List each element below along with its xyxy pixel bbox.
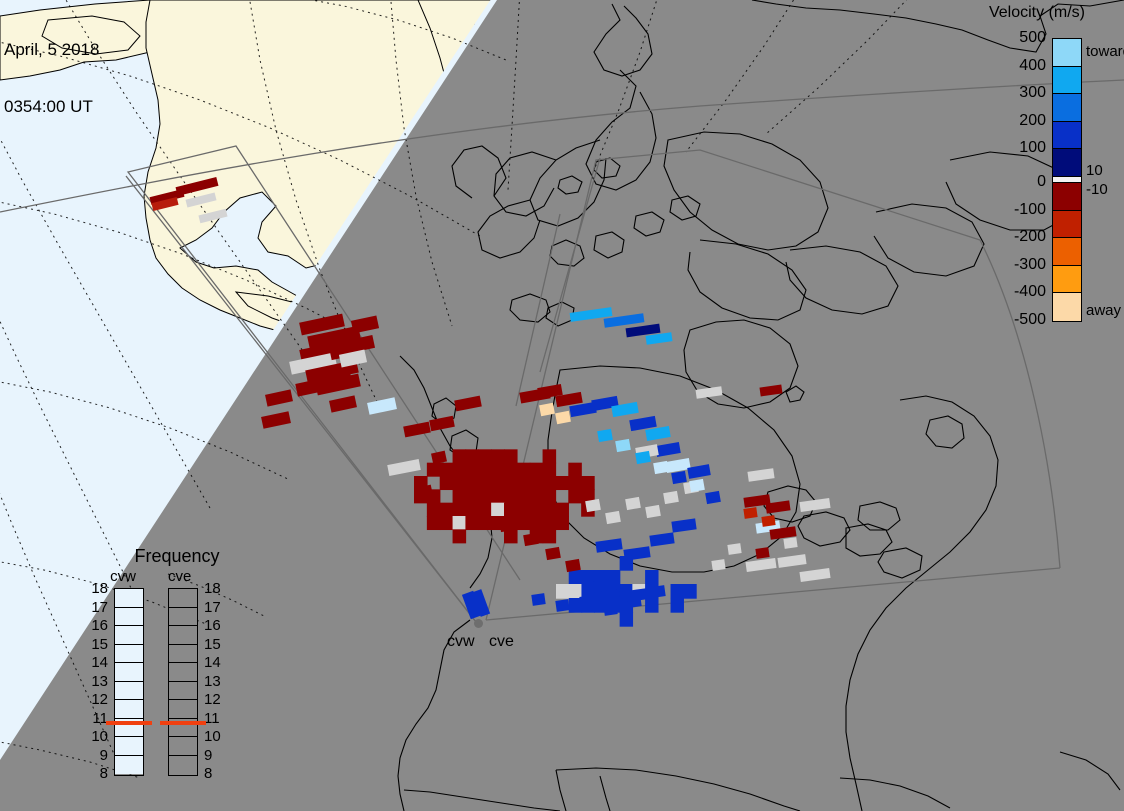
frequency-legend: Frequency cvw 18171615141312111098 cve 1… [82,546,272,796]
colorbar-tick: -100 [962,202,1046,218]
velocity-cell [429,416,455,431]
colorbar-tick: 100 [962,140,1046,156]
velocity-cell [427,503,441,517]
colorbar-segment [1053,149,1081,177]
velocity-cell [367,397,397,415]
frequency-tick: 13 [82,674,108,689]
velocity-cell-group [623,546,650,561]
velocity-cell [403,422,431,438]
colorbar-segment [1053,266,1081,294]
velocity-cell [671,598,684,613]
velocity-cell [465,516,479,530]
velocity-cell [440,476,454,490]
velocity-cell [530,516,544,530]
velocity-cell-group [783,537,797,549]
frequency-tick: 15 [204,637,230,652]
velocity-cell [387,459,421,476]
velocity-cell-group [185,192,216,207]
velocity-cell [478,449,492,463]
velocity-cell-group [555,411,571,424]
velocity-cell [759,385,782,397]
frequency-ticks-cvw: 18171615141312111098 [82,588,108,776]
velocity-cell [665,458,691,473]
velocity-cell-group [645,426,671,441]
frequency-tick: 10 [204,729,230,744]
frequency-step [169,663,197,682]
velocity-cell [777,554,806,568]
frequency-tick: 15 [82,637,108,652]
frequency-tick: 8 [204,766,230,781]
velocity-cell [530,476,544,490]
velocity-cell [545,547,561,560]
velocity-cell-group [651,585,665,598]
velocity-cell-group [671,471,687,484]
velocity-cell-group [198,209,227,224]
velocity-cell [568,463,582,477]
radar-site-dot [474,619,483,628]
velocity-cell [491,476,505,490]
velocity-cell [465,476,479,490]
velocity-cell [755,547,769,559]
velocity-cell [517,489,531,503]
velocity-cell-group [747,468,774,482]
frequency-tick: 16 [82,618,108,633]
velocity-cell-group [387,459,421,476]
velocity-cell [440,516,454,530]
velocity-cell-group [531,593,545,606]
velocity-cell [543,503,557,517]
velocity-cell-group [597,429,613,442]
frequency-tick: 9 [82,748,108,763]
colorbar-gradient [1052,38,1082,322]
velocity-cell [440,463,454,477]
velocity-cell [523,533,539,546]
velocity-cell [595,538,622,553]
velocity-cell-group [595,538,622,553]
velocity-cell [530,463,544,477]
colorbar-tick: 300 [962,85,1046,101]
velocity-cell-group [615,439,631,452]
frequency-step [115,756,143,775]
frequency-step [169,737,197,756]
velocity-cell [645,598,658,613]
velocity-cell-group [755,547,769,559]
velocity-cell-group [176,177,219,196]
velocity-cell-group [265,389,293,406]
velocity-cell-group [523,533,539,546]
velocity-cell [440,503,454,517]
velocity-cell [555,476,569,490]
colorbar-zero-lower-label: -10 [1086,182,1108,197]
frequency-step [169,700,197,719]
frequency-tick: 14 [204,655,230,670]
frequency-step [169,645,197,664]
frequency-tick: 17 [204,600,230,615]
velocity-cell [687,464,711,479]
frequency-tick: 12 [204,692,230,707]
velocity-cell [491,449,505,463]
velocity-cell [581,476,595,490]
velocity-cell-group [429,416,455,431]
velocity-cell-group [649,532,674,546]
velocity-cell-group [431,451,447,465]
colorbar-segment [1053,122,1081,150]
frequency-legend-title: Frequency [82,546,272,567]
frequency-tick: 11 [82,711,108,726]
velocity-cell-group [539,403,555,416]
frequency-step [115,663,143,682]
velocity-cell [517,516,531,530]
velocity-cell [478,476,492,490]
velocity-cell [605,511,621,524]
frequency-tick: 8 [82,766,108,781]
velocity-cell-group [605,511,621,524]
velocity-cell-group [645,505,661,518]
velocity-cell-group [367,397,397,415]
colorbar-segment [1053,183,1081,211]
velocity-cell [743,507,757,519]
velocity-cell [651,585,665,598]
frequency-bar-cvw [114,588,144,776]
frequency-step [169,756,197,775]
colorbar-tick: -300 [962,257,1046,273]
colorbar-segment [1053,293,1081,321]
velocity-cell-group [696,386,723,399]
frequency-step [115,700,143,719]
velocity-cell-group [454,396,482,412]
frequency-step [169,626,197,645]
velocity-cell-group [777,554,806,568]
frequency-tick: 11 [204,711,230,726]
colorbar-segment [1053,238,1081,266]
velocity-cell [627,595,641,608]
velocity-cell [491,463,505,477]
velocity-cell [543,463,557,477]
velocity-cell [453,503,467,517]
velocity-cell [555,503,569,517]
velocity-cell [625,497,641,510]
velocity-cell [579,595,593,608]
velocity-cell-group [761,515,775,527]
velocity-cell [504,463,518,477]
frequency-marker-cvw [106,721,152,725]
radar-site-label-cvw: cvw [447,633,475,651]
velocity-cell-group [799,498,830,512]
velocity-cell [517,476,531,490]
velocity-cell [645,505,661,518]
velocity-cell-group [545,547,561,560]
velocity-cell [671,518,696,532]
velocity-cell [543,516,557,530]
velocity-cell [799,568,830,582]
colorbar-tick: 200 [962,113,1046,129]
velocity-cell [568,489,582,503]
velocity-cell-group [603,603,617,616]
velocity-cell [427,463,441,477]
velocity-cell-group [555,599,569,612]
fan-plot-canvas: April, 5 2018 0354:00 UT cvw cve Velocit… [0,0,1124,811]
velocity-cell [453,529,467,543]
velocity-colorbar: Velocity (m/s) 5004003002001000-100-200-… [962,0,1124,340]
velocity-cell [265,389,293,406]
frequency-step [169,589,197,608]
velocity-cell [555,516,569,530]
velocity-cell [745,558,776,572]
velocity-cell [465,463,479,477]
frequency-tick: 13 [204,674,230,689]
velocity-cell [671,584,684,599]
velocity-cell [711,559,725,571]
velocity-cell [329,395,357,412]
frequency-tick: 17 [82,600,108,615]
velocity-cell [620,612,633,627]
velocity-cell [261,411,291,429]
velocity-cell-group [687,464,711,479]
frequency-marker-cve [160,721,206,725]
velocity-cell [517,503,531,517]
velocity-cell [649,532,674,546]
velocity-cell [615,439,631,452]
velocity-cell [504,529,518,543]
velocity-cell [569,584,582,599]
frequency-tick: 18 [82,581,108,596]
colorbar-segment [1053,39,1081,67]
velocity-cell [556,584,569,599]
velocity-cell [689,479,705,492]
velocity-cell [555,411,571,424]
velocity-cell [603,603,617,616]
velocity-cell [671,471,687,484]
frequency-step [115,682,143,701]
velocity-cell-group [653,461,669,474]
velocity-cell [597,429,613,442]
frequency-step [115,645,143,664]
frequency-column-cve: cve 18171615141312111098 [164,568,246,788]
velocity-cell [491,489,505,503]
velocity-cell [454,396,482,412]
velocity-cell [478,463,492,477]
frequency-step [169,682,197,701]
frequency-step [115,626,143,645]
velocity-cell [783,537,797,549]
velocity-cell [653,461,669,474]
velocity-cell [569,570,582,585]
colorbar-tick: 500 [962,30,1046,46]
velocity-cell-group [745,558,776,572]
colorbar-tick: -500 [962,312,1046,328]
velocity-cell-group [261,411,291,429]
frequency-ticks-cve: 18171615141312111098 [204,588,230,776]
frequency-bar-cve [168,588,198,776]
colorbar-zero-upper-label: 10 [1086,163,1103,178]
velocity-cell [185,192,216,207]
velocity-cell [453,449,467,463]
velocity-cell [504,489,518,503]
velocity-cell [465,449,479,463]
colorbar-away-label: away [1086,303,1121,318]
velocity-cell-group [705,491,721,504]
velocity-cell [530,489,544,503]
velocity-cell [555,599,569,612]
velocity-cell [543,529,557,543]
frequency-step [115,589,143,608]
velocity-cell [491,503,505,517]
colorbar-toward-label: toward [1086,44,1124,59]
frequency-tick: 12 [82,692,108,707]
colorbar-tick-labels: 5004003002001000-100-200-300-400-500 [962,30,1046,330]
colorbar-title: Velocity (m/s) [962,4,1112,22]
frequency-tick: 10 [82,729,108,744]
colorbar-tick: -200 [962,229,1046,245]
velocity-cell [645,570,658,585]
frequency-tick: 14 [82,655,108,670]
colorbar-tick: 400 [962,58,1046,74]
velocity-cell-group [727,543,741,555]
velocity-cell-group [351,315,379,333]
timestamp-block: April, 5 2018 0354:00 UT [4,2,99,154]
velocity-cell [645,426,671,441]
velocity-cell-group [799,568,830,582]
velocity-cell [663,491,679,504]
velocity-cell [655,442,681,457]
velocity-cell [761,515,775,527]
velocity-cell-group [663,491,679,504]
velocity-cell [539,403,555,416]
colorbar-segment [1053,94,1081,122]
velocity-cell-group [627,595,641,608]
frequency-tick: 9 [204,748,230,763]
velocity-cell [453,489,467,503]
velocity-cell [504,476,518,490]
velocity-cell [427,516,441,530]
radar-site-label-cve: cve [489,633,514,651]
velocity-cell [198,209,227,224]
velocity-cell-group [329,395,357,412]
velocity-cell [431,451,447,465]
velocity-cell [517,463,531,477]
velocity-cell [747,468,774,482]
velocity-cell-group [743,507,757,519]
velocity-cell [504,503,518,517]
velocity-cell-group [689,479,705,492]
velocity-cell [727,543,741,555]
velocity-cell [176,177,219,196]
frequency-column-cvw: cvw 18171615141312111098 [82,568,164,788]
velocity-cell [543,489,557,503]
velocity-cell [351,315,379,333]
velocity-cell-group [759,385,782,397]
velocity-cell [453,516,467,530]
velocity-cell [623,546,650,561]
velocity-cell [568,476,582,490]
velocity-cell [799,498,830,512]
velocity-cell [683,584,696,599]
velocity-cell [543,476,557,490]
velocity-cell [504,449,518,463]
velocity-cell-group [655,442,681,457]
colorbar-segment [1053,67,1081,95]
colorbar-segment [1053,211,1081,239]
velocity-cell-group [711,559,725,571]
colorbar-tick: -400 [962,284,1046,300]
frequency-step [115,608,143,627]
velocity-cell-group [403,422,431,438]
colorbar-tick: 0 [962,174,1046,190]
frequency-step [169,608,197,627]
velocity-cell-group [671,518,696,532]
velocity-cell-group [625,497,641,510]
frequency-tick: 16 [204,618,230,633]
frequency-tick: 18 [204,581,230,596]
velocity-cell [530,503,544,517]
velocity-cell [696,386,723,399]
timestamp-date: April, 5 2018 [4,40,99,59]
velocity-cell [543,449,557,463]
velocity-cell-group [579,595,593,608]
velocity-cell [531,593,545,606]
velocity-cell-group [665,458,691,473]
velocity-cell [705,491,721,504]
frequency-step [115,737,143,756]
timestamp-time: 0354:00 UT [4,97,99,116]
velocity-cell [478,516,492,530]
